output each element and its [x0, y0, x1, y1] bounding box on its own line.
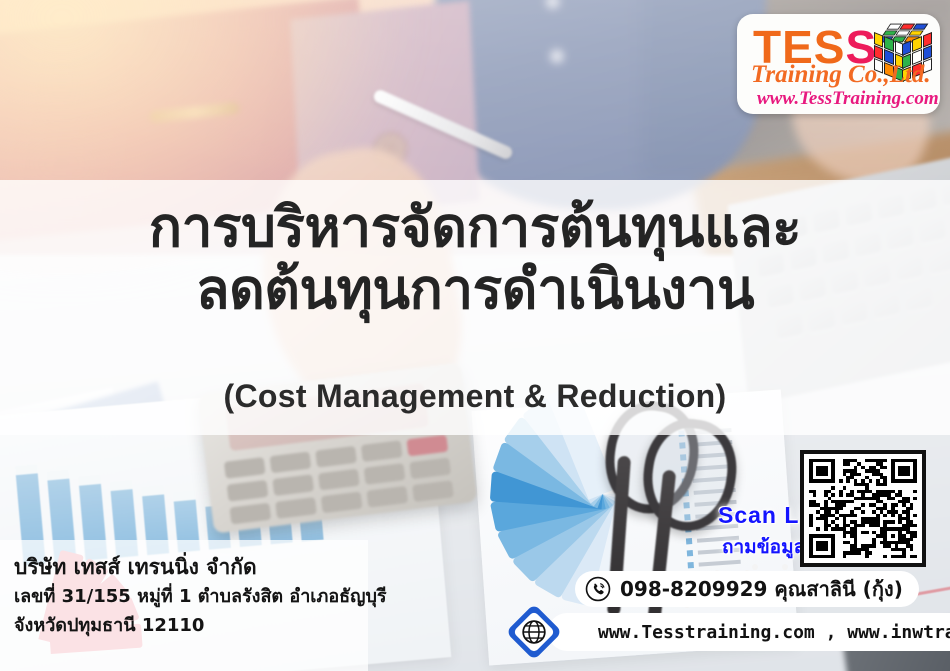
line-qr-code[interactable]: [800, 450, 926, 567]
decorative-dot: [782, 564, 788, 570]
decorative-dot: [752, 564, 758, 570]
logo-website: www.TessTraining.com: [757, 88, 939, 110]
logo-tagline: Training Co.,Ltd.: [751, 61, 931, 89]
title-line-1: การบริหารจัดการต้นทุนและ: [0, 196, 950, 258]
globe-icon: [508, 606, 560, 658]
phone-number-text: 098-8209929 คุณสาลินี (กุ้ง): [620, 573, 903, 605]
poster-canvas: TESS Training Co.,Ltd. www.TessTraining.…: [0, 0, 950, 671]
website-contact[interactable]: www.Tesstraining.com , www.inwtraining.c…: [548, 613, 950, 651]
phone-icon: [585, 576, 611, 602]
tess-logo[interactable]: TESS Training Co.,Ltd. www.TessTraining.…: [737, 14, 940, 114]
phone-contact[interactable]: 098-8209929 คุณสาลินี (กุ้ง): [575, 571, 919, 607]
course-title: การบริหารจัดการต้นทุนและ ลดต้นทุนการดำเน…: [0, 196, 950, 320]
website-text: www.Tesstraining.com , www.inwtraining.c…: [598, 622, 950, 643]
address-line-2: จังหวัดปทุมธานี 12110: [14, 611, 434, 640]
qr-code-matrix: [809, 459, 917, 558]
address-line-1: เลขที่ 31/155 หมู่ที่ 1 ตำบลรังสิต อำเภอ…: [14, 582, 434, 611]
course-subtitle: (Cost Management & Reduction): [0, 378, 950, 415]
title-line-2: ลดต้นทุนการดำเนินงาน: [0, 258, 950, 320]
company-address: บริษัท เทสส์ เทรนนิ่ง จำกัด เลขที่ 31/15…: [14, 552, 434, 640]
scan-line-sublabel: ถามข้อมูล: [722, 532, 805, 562]
company-name: บริษัท เทสส์ เทรนนิ่ง จำกัด: [14, 552, 434, 582]
